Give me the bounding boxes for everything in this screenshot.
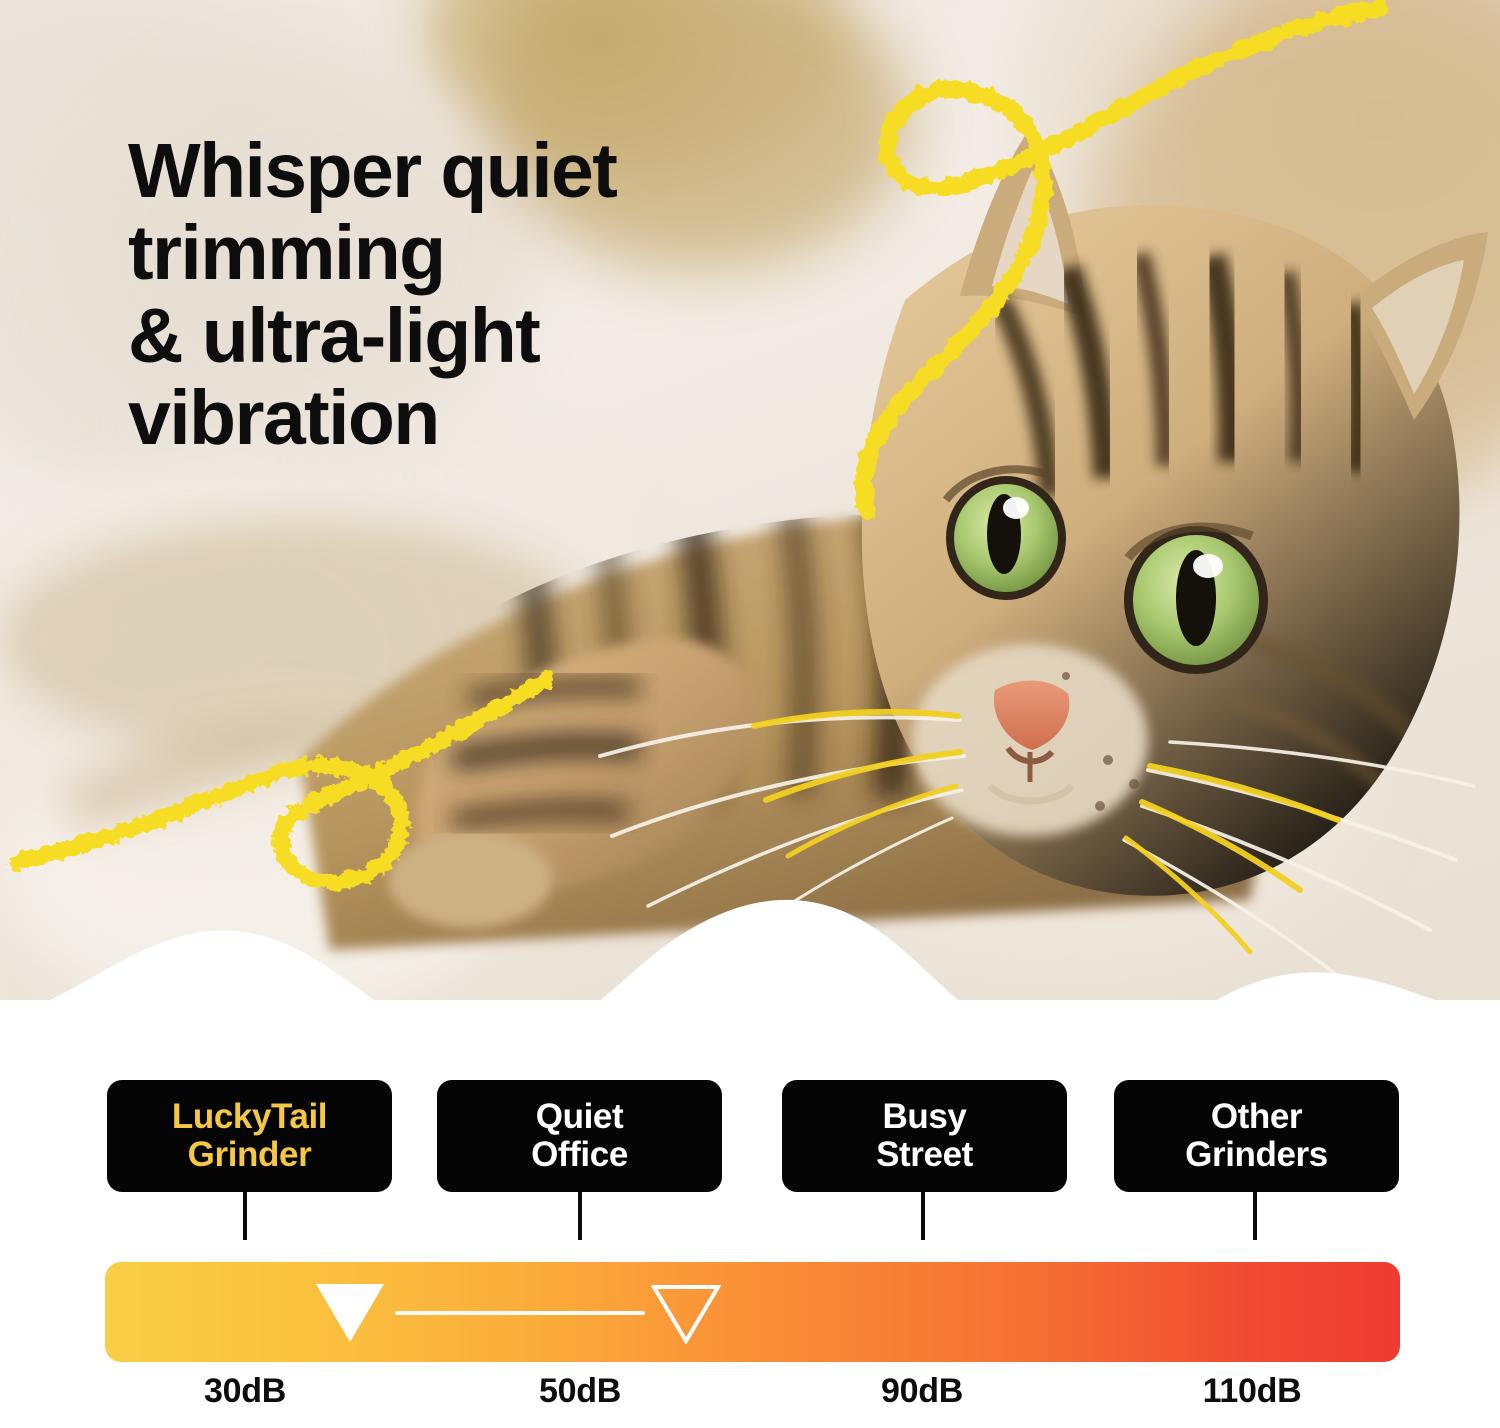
chart-label-other-grinders: Other Grinders <box>1114 1080 1399 1192</box>
tick-label-90db: 90dB <box>822 1372 1022 1411</box>
connector-line-3 <box>921 1192 925 1240</box>
noise-gradient-bar <box>105 1262 1400 1362</box>
marker-connector-line <box>395 1311 645 1315</box>
tick-label-30db: 30dB <box>145 1372 345 1411</box>
marker-outline-triangle-50db <box>651 1284 721 1344</box>
product-marketing-image: Whisper quiet trimming & ultra-light vib… <box>0 0 1500 1428</box>
page-title: Whisper quiet trimming & ultra-light vib… <box>128 130 788 460</box>
wavy-divider <box>0 880 1500 1000</box>
marker-filled-triangle-30db <box>316 1284 384 1342</box>
tick-label-110db: 110dB <box>1152 1372 1352 1411</box>
chart-label-text: Busy Street <box>876 1098 973 1175</box>
chart-label-text: Other Grinders <box>1185 1098 1328 1175</box>
chart-label-text: Quiet Office <box>531 1098 628 1175</box>
connector-line-1 <box>243 1192 247 1240</box>
connector-line-4 <box>1253 1192 1257 1240</box>
chart-label-busy-street: Busy Street <box>782 1080 1067 1192</box>
chart-label-luckytail-grinder: LuckyTail Grinder <box>107 1080 392 1192</box>
chart-label-text: LuckyTail Grinder <box>172 1098 327 1175</box>
noise-level-chart: LuckyTail Grinder Quiet Office Busy Stre… <box>0 1000 1500 1428</box>
chart-label-quiet-office: Quiet Office <box>437 1080 722 1192</box>
tick-label-50db: 50dB <box>480 1372 680 1411</box>
connector-line-2 <box>578 1192 582 1240</box>
